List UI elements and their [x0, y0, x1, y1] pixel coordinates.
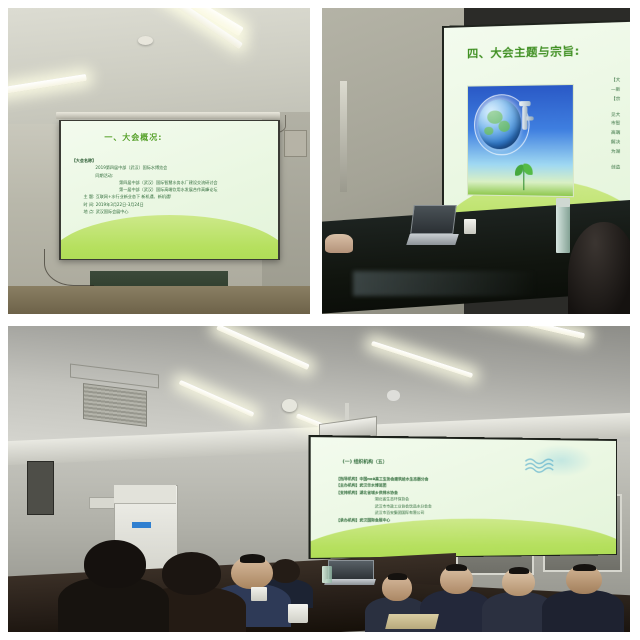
slide-title: 四、大会主题与宗旨: — [467, 42, 580, 61]
slide-line: 【大会名称】 — [72, 157, 270, 164]
framed-picture — [27, 461, 54, 515]
smoke-detector-icon — [387, 390, 399, 400]
paper-cup — [288, 604, 308, 622]
slide-line: 高端 — [611, 129, 630, 138]
slide-line: 创造 — [611, 163, 630, 173]
smoke-detector-icon — [138, 36, 153, 45]
projection-screen: 一、大会概况: 【大会名称】 2019第四届中部（武汉）国际水博览会 同期活动:… — [59, 120, 279, 261]
screen-roller-rail — [56, 112, 279, 119]
hand — [325, 234, 353, 252]
floor — [8, 286, 310, 314]
slide-line: 2019第四届中部（武汉）国际水博览会 — [72, 164, 270, 171]
slide-wave-decoration — [310, 518, 616, 558]
laptop-computer — [325, 562, 375, 590]
slide-title: 一、大会概况: — [104, 132, 162, 143]
water-wave-icon — [517, 456, 570, 475]
notebook — [385, 614, 439, 629]
projection-screen: (一) 组织机构（五） 【指导机构】中国ной高工生协会建筑给水生态器分会 【主… — [309, 435, 618, 559]
attendee-right-3 — [487, 568, 549, 632]
slide-body: 【大会名称】 2019第四届中部（武汉）国际水博览会 同期活动: 第四届中部（武… — [72, 157, 270, 215]
photo-top-right: 四、大会主题与宗旨: — [322, 8, 630, 314]
slide-line: 第一届中部（武汉）国际高端饮用水发展合作高峰论坛 — [72, 186, 270, 193]
slide-line: 地 点: 武汉国际会展中心 — [72, 208, 270, 215]
attendee-foreground-left — [64, 540, 164, 632]
slide-overview: 一、大会概况: 【大会名称】 2019第四届中部（武汉）国际水博览会 同期活动:… — [61, 121, 278, 259]
wall-air-vent-icon — [284, 130, 307, 156]
faucet-icon — [519, 101, 536, 130]
slide-right-column: 【大 —新 【宗 见大 市智 高端 解决 为湖 创造 — [611, 76, 630, 173]
photo-bottom: (一) 组织机构（五） 【指导机构】中国ной高工生协会建筑给水生态器分会 【主… — [8, 326, 630, 632]
photo-collage: 一、大会概况: 【大会名称】 2019第四届中部（武汉）国际水博览会 同期活动:… — [0, 0, 640, 640]
slide-line: 时 间: 2019年3月22日-3月24日 — [72, 201, 270, 208]
slide-organizers: (一) 组织机构（五） 【指导机构】中国ной高工生协会建筑给水生态器分会 【主… — [310, 437, 616, 558]
sprout-icon — [514, 158, 533, 191]
slide-line: 同期活动: — [72, 172, 270, 179]
smoke-detector-icon — [282, 399, 297, 411]
slide-body: 【指导机构】中国ной高工生协会建筑给水生态器分会 【主办机构】武汉华水博览团 … — [336, 476, 599, 524]
air-conditioner-top — [114, 485, 176, 504]
laptop-computer — [408, 207, 457, 250]
slide-illustration-water-earth — [467, 84, 573, 197]
photo-top-left: 一、大会概况: 【大会名称】 2019第四届中部（武汉）国际水博览会 同期活动:… — [8, 8, 310, 314]
slide-line: 第四届中部（武汉）国际智慧水务水厂建设交流研讨会 — [72, 179, 270, 186]
slide-subtitle: (一) 组织机构（五） — [343, 459, 388, 466]
slide-line: 主 题: 互联网+水行业新业态下 新机遇、新机遇! — [72, 193, 270, 200]
water-bottle — [556, 204, 570, 253]
water-bottle — [322, 566, 332, 583]
paper-cup — [251, 587, 267, 601]
table-reflection — [353, 271, 538, 295]
air-conditioner-badge — [132, 522, 151, 528]
attendee-right-4 — [549, 565, 617, 632]
paper-cup — [464, 219, 476, 234]
wall-strip — [340, 81, 346, 191]
bottle-cap — [556, 198, 570, 207]
slide-line: 市智 — [611, 120, 630, 129]
slide-line: 【承办机构】武汉国际会展中心 — [336, 516, 599, 524]
